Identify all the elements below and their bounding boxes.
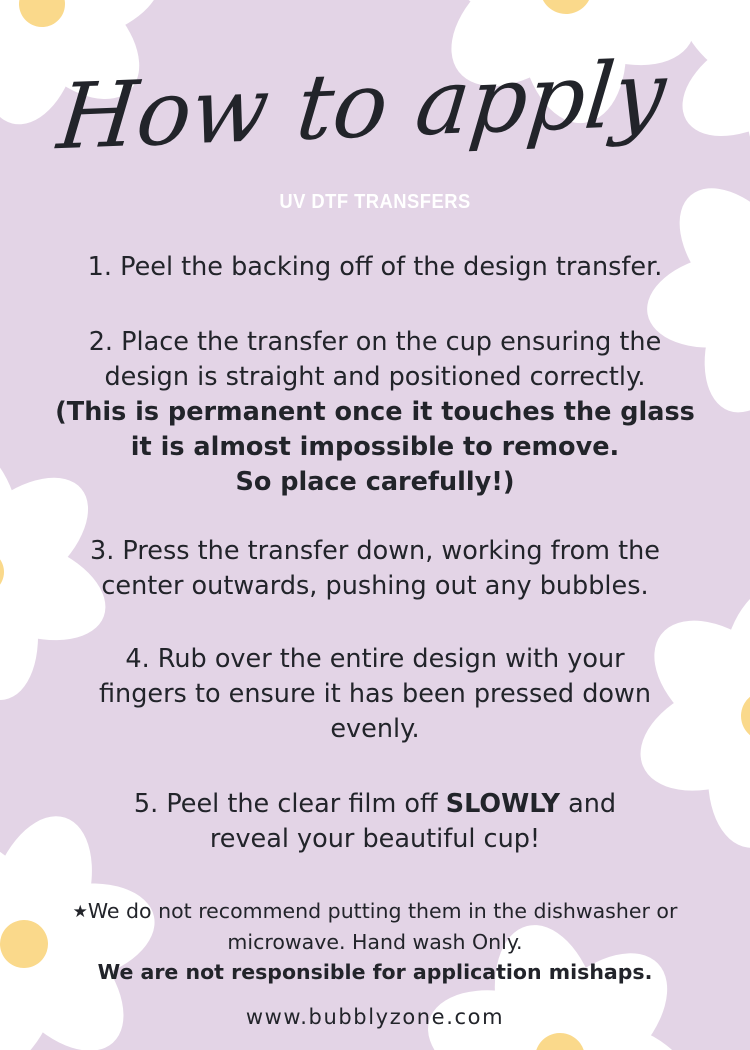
step-2-line-3: (This is permanent once it touches the g… [22,395,728,430]
script-headline: How to apply [0,18,750,178]
step-4-line-3: evenly. [22,712,728,747]
step-2-line-4: it is almost impossible to remove. [22,430,728,465]
step-item-5: 5. Peel the clear film off SLOWLY and re… [22,787,728,857]
step-item-3: 3. Press the transfer down, working from… [22,534,728,604]
star-icon: ★ [73,902,88,922]
disclaimer-line-1-text: We do not recommend putting them in the … [88,899,678,923]
website-url[interactable]: www.bubblyzone.com [0,1005,750,1029]
step-item-2: 2. Place the transfer on the cup ensurin… [22,325,728,500]
poster-canvas: How to apply UV DTF TRANSFERS 1. Peel th… [0,0,750,1050]
step-2-line-2: design is straight and positioned correc… [22,360,728,395]
disclaimer-line-1: ★We do not recommend putting them in the… [22,896,728,927]
step-5-suffix: and [560,789,616,819]
step-4-line-1: 4. Rub over the entire design with your [22,642,728,677]
step-item-1: 1. Peel the backing off of the design tr… [22,250,728,285]
sub-headline: UV DTF TRANSFERS [30,172,720,232]
step-5-line-1: 5. Peel the clear film off SLOWLY and [22,787,728,822]
step-4-line-2: fingers to ensure it has been pressed do… [22,677,728,712]
step-1-line-1: 1. Peel the backing off of the design tr… [22,250,728,285]
step-item-4: 4. Rub over the entire design with your … [22,642,728,747]
step-3-line-1: 3. Press the transfer down, working from… [22,534,728,569]
step-5-line-2: reveal your beautiful cup! [22,822,728,857]
step-2-line-5: So place carefully!) [22,465,728,500]
disclaimer-block: ★We do not recommend putting them in the… [22,896,728,987]
instruction-steps: 1. Peel the backing off of the design tr… [22,250,728,857]
step-5-prefix: 5. Peel the clear film off [134,789,446,819]
disclaimer-line-3: We are not responsible for application m… [22,957,728,987]
step-5-emphasis: SLOWLY [446,789,560,819]
step-2-line-1: 2. Place the transfer on the cup ensurin… [22,325,728,360]
script-headline-text: How to apply [51,42,672,170]
step-3-line-2: center outwards, pushing out any bubbles… [22,569,728,604]
disclaimer-line-2: microwave. Hand wash Only. [22,927,728,957]
poster-content: How to apply UV DTF TRANSFERS 1. Peel th… [0,0,750,1050]
